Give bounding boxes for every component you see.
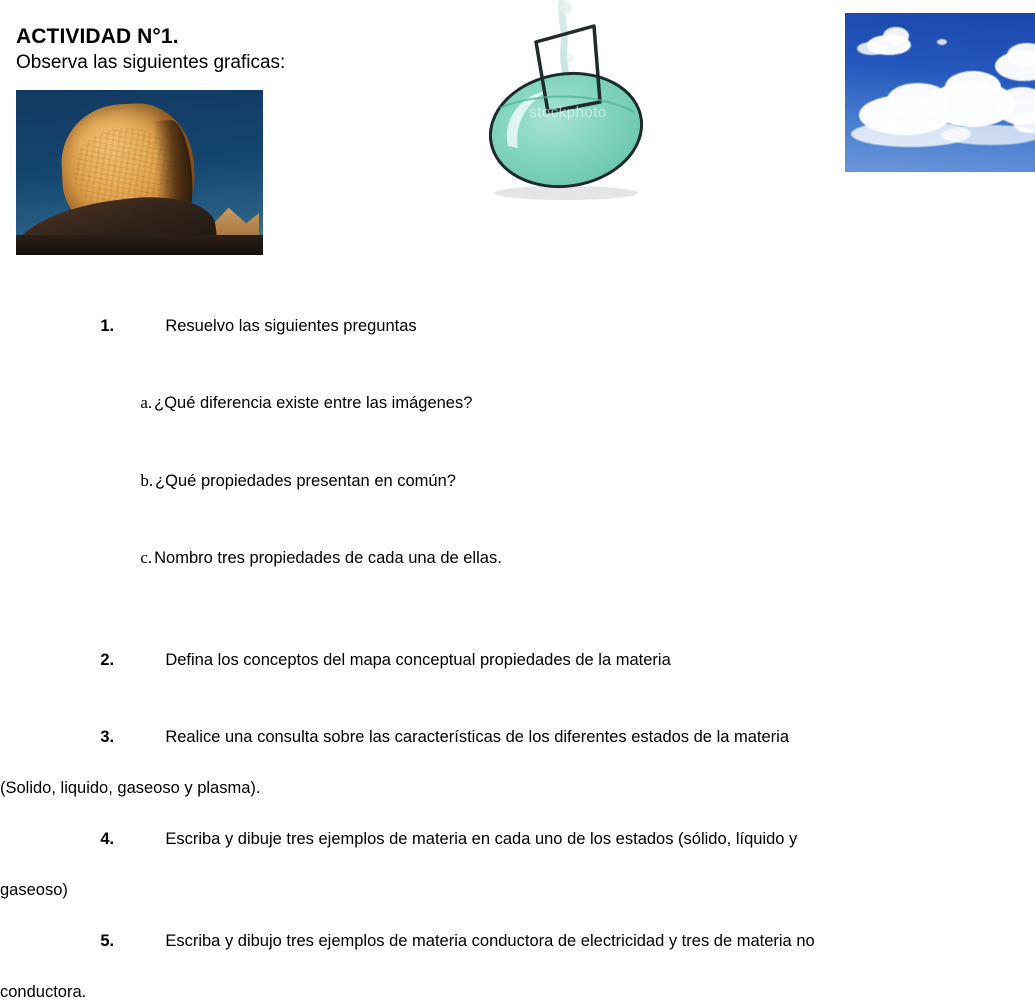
task-subitem-letter: c. <box>140 548 152 567</box>
task-subitem-letter: b. <box>140 471 153 490</box>
task-subitem: b.¿Qué propiedades presentan en común? <box>0 442 1035 520</box>
flask-illustration-image: stockphoto <box>478 0 654 205</box>
flask-svg <box>478 0 654 205</box>
task-item: 5.Escriba y dibujo tres ejemplos de mate… <box>0 903 1035 980</box>
task-number: 4. <box>100 827 165 853</box>
task-subitem-text: ¿Qué propiedades presentan en común? <box>155 472 456 490</box>
task-item: 1.Resuelvo las siguientes preguntas <box>0 288 1035 365</box>
task-text: Escriba y dibujo tres ejemplos de materi… <box>165 932 814 950</box>
task-continuation: (Solido, liquido, gaseoso y plasma). <box>0 776 1035 802</box>
task-text: Defina los conceptos del mapa conceptual… <box>165 651 670 669</box>
task-continuation: gaseoso) <box>0 878 1035 904</box>
task-item: 2.Defina los conceptos del mapa conceptu… <box>0 623 1035 700</box>
task-subitem-text: ¿Qué diferencia existe entre las imágene… <box>154 394 472 412</box>
task-subitem: a.¿Qué diferencia existe entre las imáge… <box>0 365 1035 443</box>
task-list: 1.Resuelvo las siguientes preguntas a.¿Q… <box>0 288 1035 1005</box>
rock-photo-foreground <box>16 235 263 255</box>
rock-photo-image <box>16 90 263 255</box>
cloud-shape <box>945 71 1001 103</box>
task-item: 4.Escriba y dibuje tres ejemplos de mate… <box>0 801 1035 878</box>
task-text: Escriba y dibuje tres ejemplos de materi… <box>165 830 797 848</box>
flask-droplet-1 <box>560 2 572 14</box>
task-subitem: c.Nombro tres propiedades de cada una de… <box>0 520 1035 598</box>
list-spacer <box>0 597 1035 623</box>
flask-droplet-2 <box>566 54 574 62</box>
task-number: 2. <box>100 648 165 674</box>
task-number: 3. <box>100 725 165 751</box>
flask-shadow <box>494 186 638 200</box>
cloud-shape <box>857 42 887 55</box>
task-subitem-text: Nombro tres propiedades de cada una de e… <box>154 549 502 567</box>
task-text: Resuelvo las siguientes preguntas <box>165 317 416 335</box>
sky-clouds-image <box>845 13 1035 172</box>
task-continuation: conductora. <box>0 980 1035 1005</box>
task-text: Realice una consulta sobre las caracterí… <box>165 728 789 746</box>
cloud-shape <box>883 27 909 45</box>
task-number: 5. <box>100 929 165 955</box>
task-item: 3.Realice una consulta sobre las caracte… <box>0 699 1035 776</box>
cloud-shape <box>937 39 947 45</box>
task-subitem-letter: a. <box>140 393 152 412</box>
task-number: 1. <box>100 314 165 340</box>
